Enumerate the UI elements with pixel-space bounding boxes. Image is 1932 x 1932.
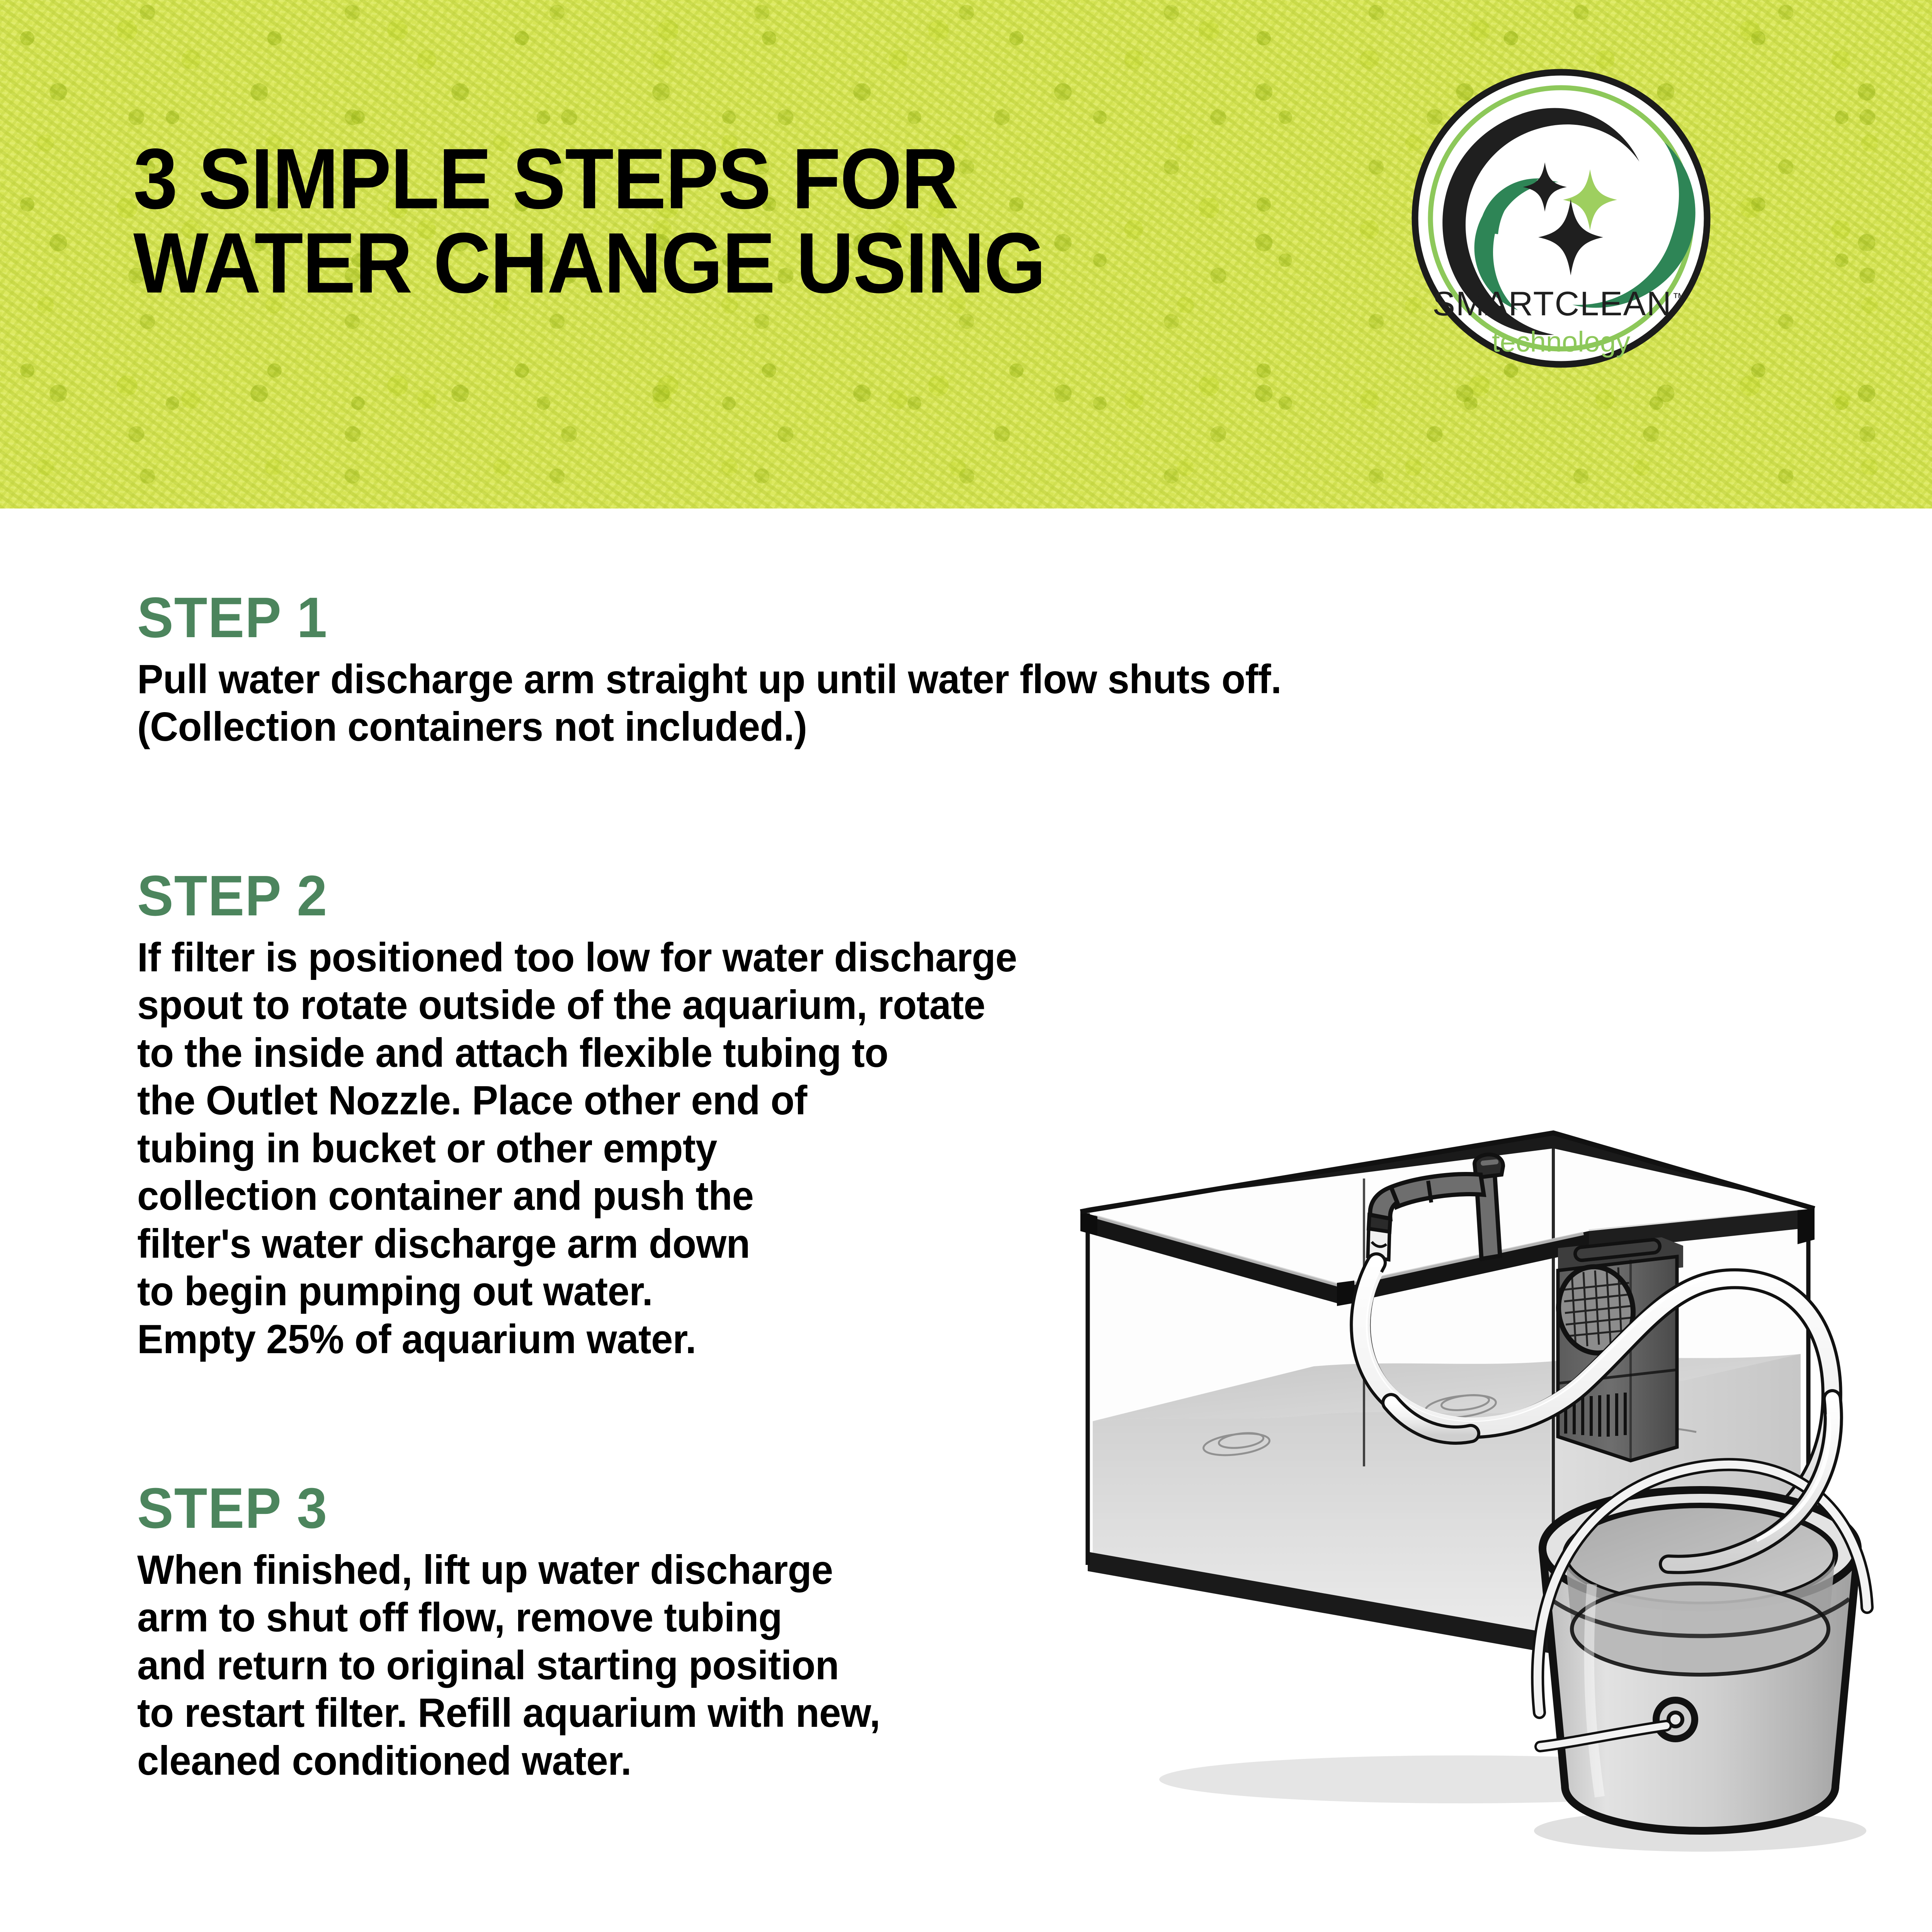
- step-2-line-8: to begin pumping out water.: [137, 1268, 1017, 1315]
- step-3-line-2: arm to shut off flow, remove tubing: [137, 1594, 880, 1641]
- page-title: 3 SIMPLE STEPS FOR WATER CHANGE USING: [133, 137, 1265, 305]
- step-2-line-7: filter's water discharge arm down: [137, 1220, 1017, 1268]
- bucket-interior-floor: [1572, 1583, 1828, 1675]
- step-block-3: STEP 3 When finished, lift up water disc…: [137, 1480, 915, 1785]
- step-3-body: When finished, lift up water discharge a…: [137, 1546, 880, 1785]
- logo-tagline-text: technology: [1492, 326, 1630, 358]
- step-1-body: Pull water discharge arm straight up unt…: [137, 656, 1281, 751]
- title-line-2: WATER CHANGE USING: [133, 221, 1265, 306]
- step-3-line-1: When finished, lift up water discharge: [137, 1546, 880, 1594]
- step-2-heading: STEP 2: [137, 867, 1012, 925]
- step-2-line-6: collection container and push the: [137, 1172, 1017, 1220]
- step-2-line-1: If filter is positioned too low for wate…: [137, 934, 1017, 981]
- step-2-line-5: tubing in bucket or other empty: [137, 1125, 1017, 1172]
- step-1-line-1: Pull water discharge arm straight up unt…: [137, 656, 1281, 703]
- step-1-heading: STEP 1: [137, 589, 1276, 646]
- step-1-line-2: (Collection containers not included.): [137, 703, 1281, 751]
- collection-bucket: [1534, 1464, 1867, 1852]
- step-3-heading: STEP 3: [137, 1480, 876, 1537]
- aquarium-illustration: [1005, 1012, 1932, 1932]
- smartclean-logo: SMARTCLEAN ™ technology: [1408, 66, 1714, 371]
- step-3-line-4: to restart filter. Refill aquarium with …: [137, 1689, 880, 1737]
- step-2-line-2: spout to rotate outside of the aquarium,…: [137, 981, 1017, 1029]
- step-2-body: If filter is positioned too low for wate…: [137, 934, 1017, 1363]
- logo-brand-text: SMARTCLEAN: [1432, 284, 1672, 323]
- step-3-line-5: cleaned conditioned water.: [137, 1737, 880, 1785]
- step-2-line-9: Empty 25% of aquarium water.: [137, 1316, 1017, 1363]
- step-2-line-4: the Outlet Nozzle. Place other end of: [137, 1077, 1017, 1124]
- title-line-1: 3 SIMPLE STEPS FOR: [133, 137, 1265, 221]
- step-2-line-3: to the inside and attach flexible tubing…: [137, 1029, 1017, 1077]
- step-3-line-3: and return to original starting position: [137, 1642, 880, 1689]
- logo-trademark-text: ™: [1672, 291, 1685, 305]
- step-block-1: STEP 1 Pull water discharge arm straight…: [137, 589, 1335, 751]
- step-block-2: STEP 2 If filter is positioned too low f…: [137, 867, 1058, 1363]
